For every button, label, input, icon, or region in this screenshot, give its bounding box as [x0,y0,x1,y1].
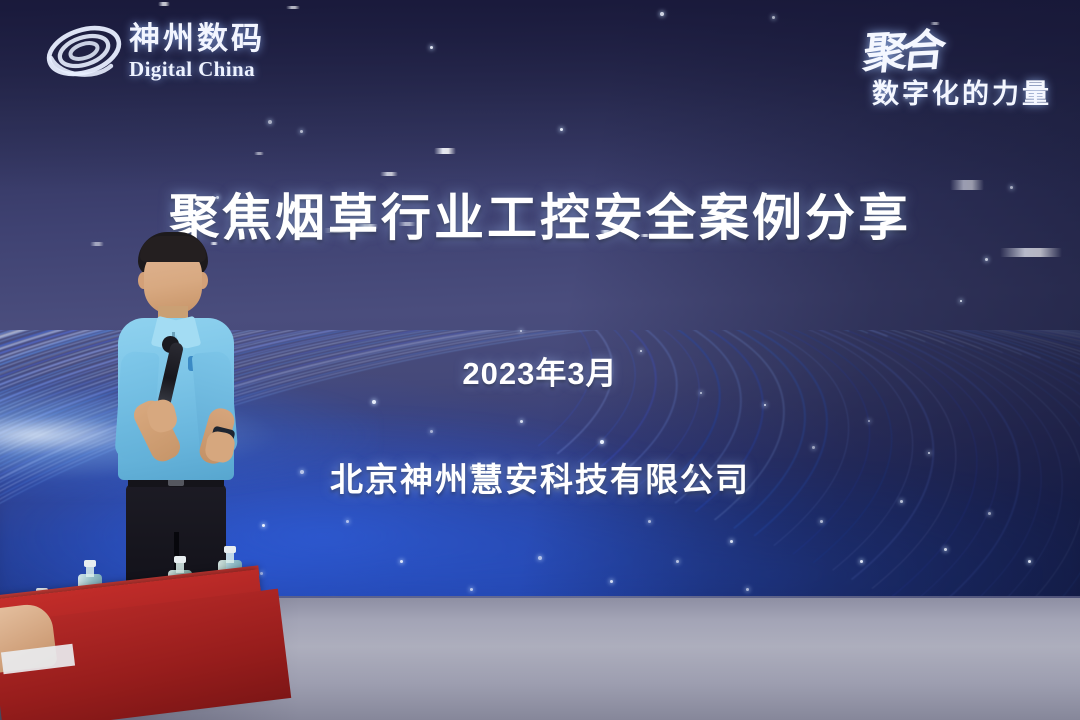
brand-name-en: Digital China [129,57,309,82]
light-particle [268,120,272,124]
digital-china-wordmark: 神州数码 Digital China [129,22,309,82]
light-particle [985,258,988,261]
light-particle [730,540,733,543]
light-particle [430,46,433,49]
light-streak [286,6,300,9]
light-particle [560,128,563,131]
light-streak [254,152,264,155]
brand-name-cn: 神州数码 [129,22,309,56]
light-particle [764,404,766,406]
light-particle [520,420,523,423]
speaker-fringe [140,236,206,262]
digital-china-swirl-icon [45,20,123,84]
light-particle [260,572,263,575]
bottle-cap [84,560,96,567]
light-particle [988,512,991,515]
light-particle [860,560,863,563]
light-particle [520,330,522,332]
light-particle [372,400,376,404]
bottle-cap [174,556,186,563]
light-particle [400,560,403,563]
light-particle [430,430,433,433]
light-particle [346,520,349,523]
light-particle [812,446,815,449]
light-particle [538,556,542,560]
campaign-tagline: 数字化的力量 [872,72,1052,111]
light-particle [960,300,962,302]
light-particle [676,560,679,563]
light-particle [610,580,613,583]
bottle-cap [224,546,236,553]
light-particle [470,588,473,591]
light-particle [648,520,651,523]
campaign-logo: 聚合 数字化的力量 [808,16,1058,116]
light-particle [660,12,664,16]
light-particle [944,548,947,551]
light-particle [820,520,823,523]
light-streak [158,2,170,6]
light-particle [300,130,303,133]
conference-photo: 神州数码 Digital China 聚合 数字化的力量 聚焦烟草行业工控安全案… [0,0,1080,720]
light-particle [868,420,870,422]
light-streak [434,148,456,154]
light-particle [1028,560,1031,563]
light-streak [380,172,398,176]
light-particle [772,16,775,19]
light-particle [746,588,749,591]
light-particle [600,440,604,444]
digital-china-logo: 神州数码 Digital China [45,18,315,96]
light-particle [262,524,265,527]
